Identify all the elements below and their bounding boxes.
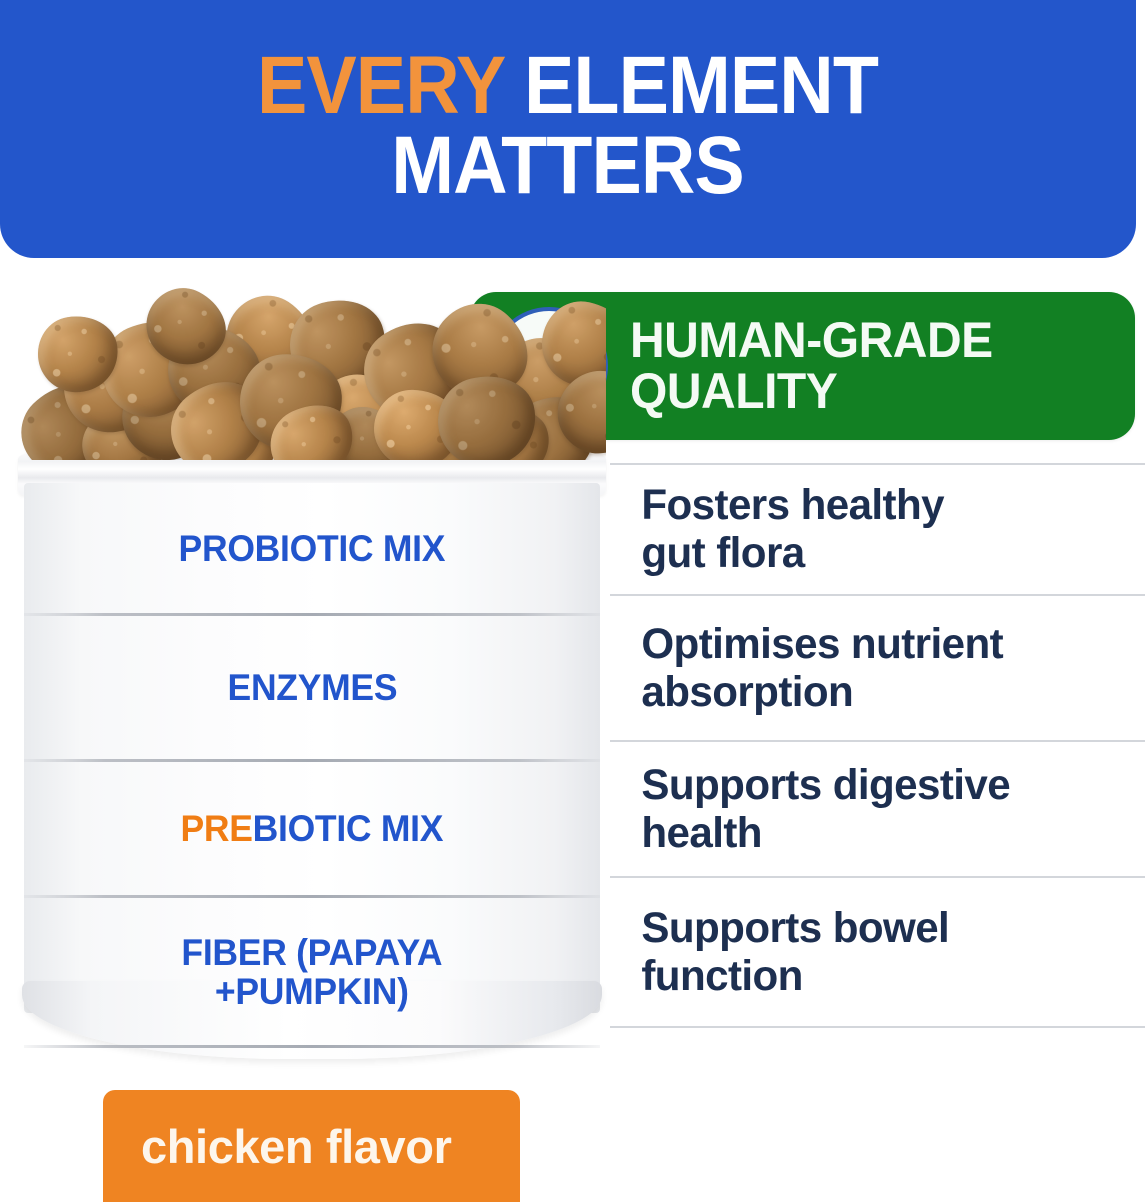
benefit-row: Supports bowel function [610,877,1145,1027]
quality-badge-label: HUMAN-GRADE QUALITY [630,315,993,417]
ingredient-label-text: PROBIOTIC MIX [179,528,446,569]
benefit-text: Supports bowel function [610,904,949,1000]
ingredient-row: ENZYMES [24,615,600,761]
page-title: EVERY ELEMENT MATTERS [257,46,878,211]
main-stage: PROBIOTIC MIXENZYMESPREBIOTIC MIXFIBER (… [0,258,1145,1183]
benefit-text: Supports digestive health [610,761,1010,857]
ingredient-label-text: FIBER (PAPAYA +PUMPKIN) [182,932,443,1012]
ingredient-divider [24,895,600,898]
ingredient-divider [24,759,600,762]
ingredient-row: PREBIOTIC MIX [24,761,600,897]
benefit-divider [610,463,1145,465]
ingredient-label-accent: PRE [181,808,253,849]
ingredient-row: FIBER (PAPAYA +PUMPKIN) [24,897,600,1047]
benefit-divider [610,740,1145,742]
header-banner: EVERY ELEMENT MATTERS [0,0,1136,258]
headline-line2: MATTERS [257,126,878,206]
benefit-text: Optimises nutrient absorption [610,620,1003,716]
ingredient-label-text: BIOTIC MIX [253,808,444,849]
headline-accent: EVERY [257,40,504,131]
ingredient-label: PREBIOTIC MIX [181,809,444,848]
benefit-row: Optimises nutrient absorption [610,595,1145,741]
benefit-text: Fosters healthy gut flora [610,481,944,577]
flavor-badge-label: chicken flavor [141,1119,451,1174]
ingredient-divider [24,1045,600,1048]
benefit-divider [610,1026,1145,1028]
benefit-divider [610,876,1145,878]
benefits-list: Fosters healthy gut floraOptimises nutri… [610,463,1145,1058]
ingredient-label: FIBER (PAPAYA +PUMPKIN) [182,933,443,1011]
ingredient-label: ENZYMES [227,668,397,707]
benefit-divider [610,594,1145,596]
supplement-jar: PROBIOTIC MIXENZYMESPREBIOTIC MIXFIBER (… [18,433,606,1058]
benefit-row: Fosters healthy gut flora [610,463,1145,595]
benefit-row: Supports digestive health [610,741,1145,877]
ingredient-row: PROBIOTIC MIX [24,483,600,615]
ingredient-divider [24,613,600,616]
ingredient-label: PROBIOTIC MIX [179,529,446,568]
ingredient-list: PROBIOTIC MIXENZYMESPREBIOTIC MIXFIBER (… [24,483,600,1013]
flavor-badge: chicken flavor [103,1090,520,1202]
headline-rest: ELEMENT [504,40,878,131]
ingredient-label-text: ENZYMES [227,667,397,708]
